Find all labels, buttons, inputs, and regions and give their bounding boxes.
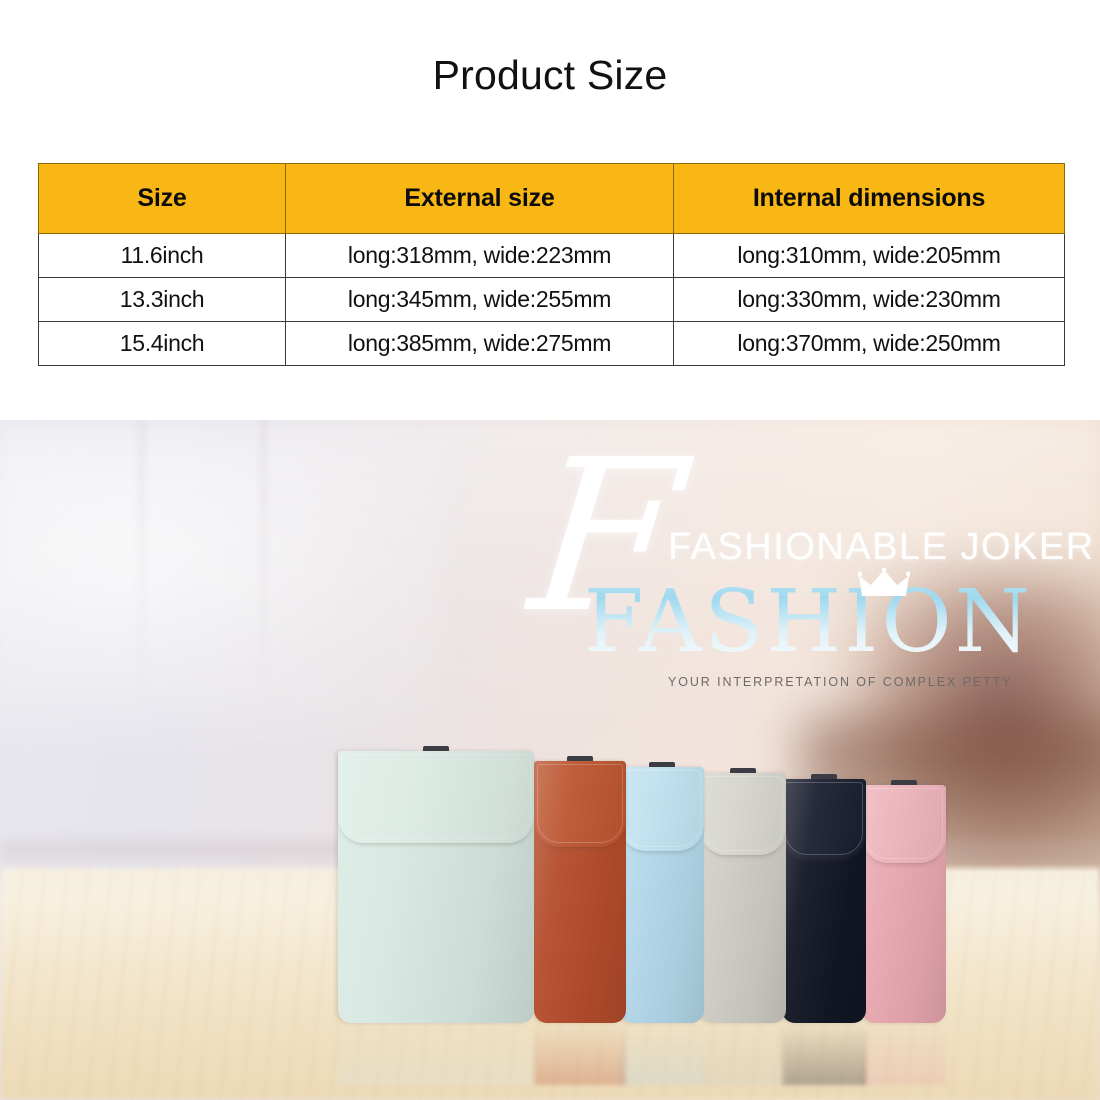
product-banner: F FASHIONABLE JOKER FASHION YOUR INTERPR… — [0, 420, 1100, 1100]
cell-size: 13.3inch — [39, 278, 286, 322]
mint-green-sleeve-sheen — [338, 751, 534, 1023]
rust-orange-sleeve[interactable] — [534, 761, 626, 1023]
grey-beige-sleeve-sheen — [700, 773, 786, 1023]
table-row: 11.6inch long:318mm, wide:223mm long:310… — [39, 234, 1065, 278]
cell-size: 15.4inch — [39, 322, 286, 366]
page-title: Product Size — [0, 52, 1100, 99]
navy-black-sleeve-sheen — [782, 779, 866, 1023]
cell-external: long:345mm, wide:255mm — [286, 278, 674, 322]
cell-internal: long:310mm, wide:205mm — [674, 234, 1065, 278]
table-header-size: Size — [39, 164, 286, 234]
size-table-wrapper: Size External size Internal dimensions 1… — [38, 163, 1064, 366]
navy-black-sleeve[interactable] — [782, 779, 866, 1023]
cell-internal: long:370mm, wide:250mm — [674, 322, 1065, 366]
pink-sleeve[interactable] — [862, 785, 946, 1023]
cell-internal: long:330mm, wide:230mm — [674, 278, 1065, 322]
table-header-internal-dimensions: Internal dimensions — [674, 164, 1065, 234]
rust-orange-sleeve-sheen — [534, 761, 626, 1023]
mint-green-sleeve[interactable] — [338, 751, 534, 1023]
grey-beige-sleeve-reflection — [700, 1023, 786, 1085]
grey-beige-sleeve[interactable] — [700, 773, 786, 1023]
cell-external: long:385mm, wide:275mm — [286, 322, 674, 366]
table-row: 13.3inch long:345mm, wide:255mm long:330… — [39, 278, 1065, 322]
product-size-page: Product Size Size External size Internal… — [0, 0, 1100, 1100]
size-table: Size External size Internal dimensions 1… — [38, 163, 1065, 366]
light-blue-sleeve[interactable] — [620, 767, 704, 1023]
light-blue-sleeve-reflection — [620, 1023, 704, 1085]
pink-sleeve-reflection — [862, 1023, 946, 1085]
rust-orange-sleeve-reflection — [534, 1023, 626, 1085]
cell-external: long:318mm, wide:223mm — [286, 234, 674, 278]
product-sleeve-group — [0, 420, 1100, 1100]
mint-green-sleeve-reflection — [338, 1023, 534, 1085]
light-blue-sleeve-sheen — [620, 767, 704, 1023]
table-row: 15.4inch long:385mm, wide:275mm long:370… — [39, 322, 1065, 366]
navy-black-sleeve-reflection — [782, 1023, 866, 1085]
table-header-external-size: External size — [286, 164, 674, 234]
pink-sleeve-sheen — [862, 785, 946, 1023]
table-header-row: Size External size Internal dimensions — [39, 164, 1065, 234]
cell-size: 11.6inch — [39, 234, 286, 278]
